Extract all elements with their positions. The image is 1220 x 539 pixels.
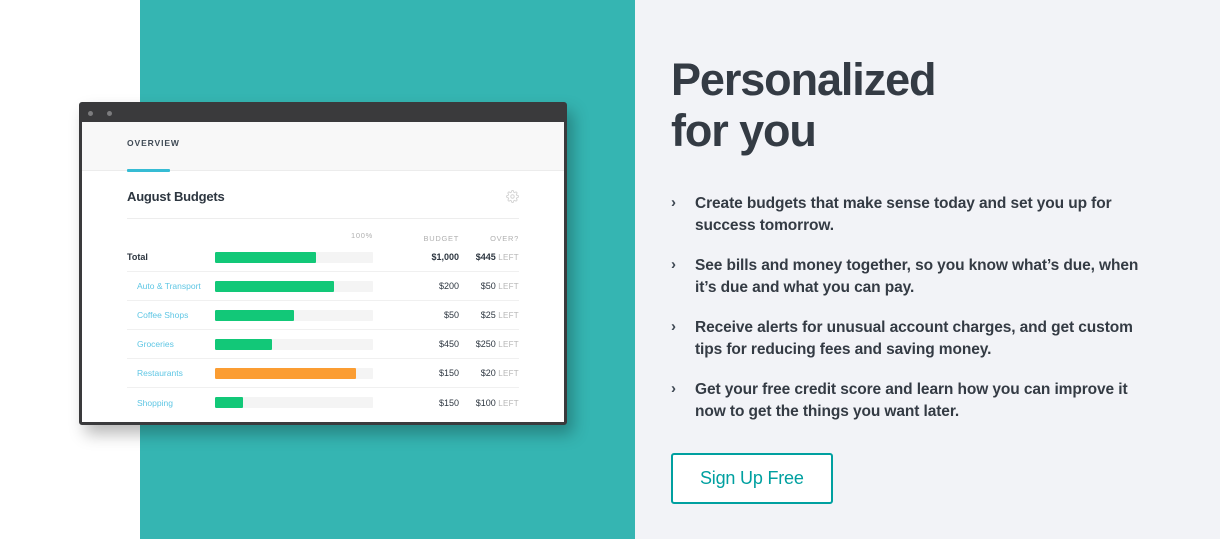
header-budget: BUDGET [424,234,459,243]
header-over: OVER? [490,234,519,243]
row-category-link[interactable]: Coffee Shops [127,310,215,320]
remaining-value: $25 [481,310,496,320]
marketing-content: Personalized for you ›Create budgets tha… [671,0,1191,504]
list-item: ›See bills and money together, so you kn… [671,255,1191,299]
table-row: Total$1,000$445 LEFT [127,243,519,272]
remaining-value: $250 [476,339,496,349]
progress-track [215,339,373,350]
budget-table-header-row: 100% BUDGET OVER? [127,223,519,243]
progress-fill [215,310,294,321]
table-row: Shopping$150$100 LEFT [127,388,519,417]
headline-line-1: Personalized [671,54,935,105]
browser-mockup: OVERVIEW August Budgets 100% [79,102,567,425]
table-row: Groceries$450$250 LEFT [127,330,519,359]
row-remaining-amount: $250 LEFT [459,339,519,349]
remaining-value: $100 [476,398,496,408]
browser-viewport: OVERVIEW August Budgets 100% [82,122,564,422]
progress-fill [215,281,334,292]
list-item-text: Create budgets that make sense today and… [695,193,1155,237]
chevron-right-icon: › [671,317,695,337]
table-row: Restaurants$150$20 LEFT [127,359,519,388]
row-remaining-amount: $100 LEFT [459,398,519,408]
row-budget-amount: $450 [373,339,459,349]
row-progress-cell [215,339,373,350]
row-remaining-amount: $50 LEFT [459,281,519,291]
list-item-text: Get your free credit score and learn how… [695,379,1155,423]
row-remaining-amount: $445 LEFT [459,252,519,262]
page-title: Personalized for you [671,55,1191,157]
remaining-value: $20 [481,368,496,378]
row-budget-amount: $1,000 [373,252,459,262]
remaining-value: $445 [476,252,496,262]
row-category-link[interactable]: Restaurants [127,368,215,378]
feature-list: ›Create budgets that make sense today an… [671,193,1191,423]
list-item: ›Receive alerts for unusual account char… [671,317,1191,361]
remaining-suffix: LEFT [498,282,519,291]
sign-up-free-button[interactable]: Sign Up Free [671,453,833,504]
table-row: Auto & Transport$200$50 LEFT [127,272,519,301]
remaining-suffix: LEFT [498,340,519,349]
progress-fill [215,339,272,350]
progress-track [215,281,373,292]
chevron-right-icon: › [671,379,695,399]
headline-line-2: for you [671,105,816,156]
row-budget-amount: $150 [373,368,459,378]
row-remaining-amount: $20 LEFT [459,368,519,378]
row-progress-cell [215,281,373,292]
remaining-suffix: LEFT [498,399,519,408]
remaining-suffix: LEFT [498,253,519,262]
gear-icon[interactable] [506,190,519,203]
progress-fill [215,368,356,379]
row-progress-cell [215,368,373,379]
window-dot-1-icon [88,111,93,116]
list-item: ›Get your free credit score and learn ho… [671,379,1191,423]
browser-titlebar [82,105,564,122]
progress-fill [215,397,243,408]
list-item-text: Receive alerts for unusual account charg… [695,317,1155,361]
remaining-value: $50 [481,281,496,291]
list-item: ›Create budgets that make sense today an… [671,193,1191,237]
budgets-card-title: August Budgets [127,189,225,204]
progress-track [215,310,373,321]
chevron-right-icon: › [671,255,695,275]
progress-track [215,397,373,408]
header-percent: 100% [351,231,373,240]
list-item-text: See bills and money together, so you kno… [695,255,1155,299]
budget-table: 100% BUDGET OVER? Total$1,000$445 LEFTAu… [127,223,519,417]
progress-fill [215,252,316,263]
row-budget-amount: $150 [373,398,459,408]
row-category-link[interactable]: Auto & Transport [127,281,215,291]
row-category-link[interactable]: Shopping [127,398,215,408]
window-dot-2-icon [107,111,112,116]
row-progress-cell [215,397,373,408]
row-budget-amount: $50 [373,310,459,320]
row-progress-cell [215,252,373,263]
row-category-link[interactable]: Groceries [127,339,215,349]
tab-active-underline [127,169,170,172]
tab-overview[interactable]: OVERVIEW [127,138,180,165]
chevron-right-icon: › [671,193,695,213]
progress-track [215,368,373,379]
app-nav-strip: OVERVIEW [82,122,564,171]
budgets-card-header: August Budgets [127,189,519,219]
progress-track [215,252,373,263]
row-remaining-amount: $25 LEFT [459,310,519,320]
remaining-suffix: LEFT [498,311,519,320]
row-label-total: Total [127,252,215,262]
table-row: Coffee Shops$50$25 LEFT [127,301,519,330]
row-budget-amount: $200 [373,281,459,291]
row-progress-cell [215,310,373,321]
remaining-suffix: LEFT [498,369,519,378]
budgets-card: August Budgets 100% BUDGET [82,171,564,417]
